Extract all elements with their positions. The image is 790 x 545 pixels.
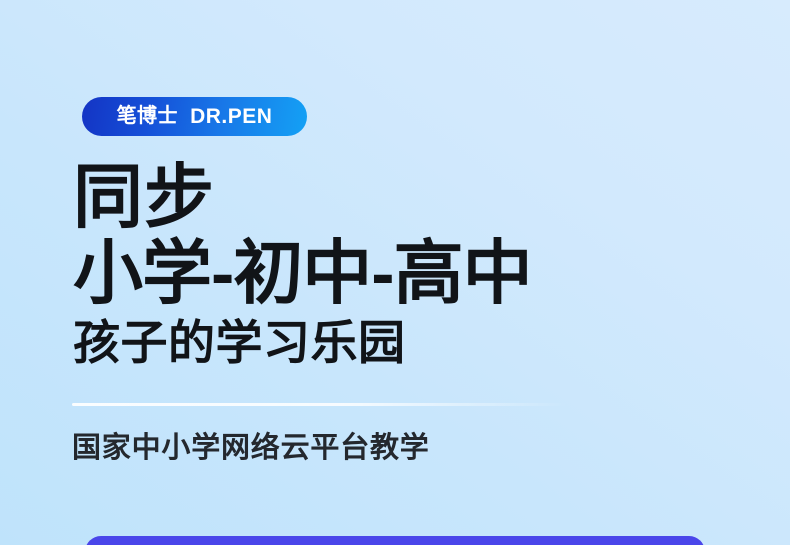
brand-name-cn: 笔博士 — [117, 106, 179, 126]
headline-line-3: 孩子的学习乐园 — [73, 315, 733, 371]
headline-divider — [72, 403, 567, 406]
brand-badge: 笔博士 DR.PEN — [82, 97, 307, 136]
headline-line-2: 小学-初中-高中 — [73, 234, 733, 312]
brand-name-en: DR.PEN — [190, 106, 272, 127]
banner-subtitle: 国家中小学网络云平台教学 — [72, 429, 430, 467]
bottom-panel-peek — [85, 536, 705, 545]
headline-line-1: 同步 — [73, 158, 733, 236]
headline-block: 同步 小学-初中-高中 孩子的学习乐园 — [73, 158, 733, 371]
promo-banner: 笔博士 DR.PEN 同步 小学-初中-高中 孩子的学习乐园 国家中小学网络云平… — [0, 0, 790, 545]
